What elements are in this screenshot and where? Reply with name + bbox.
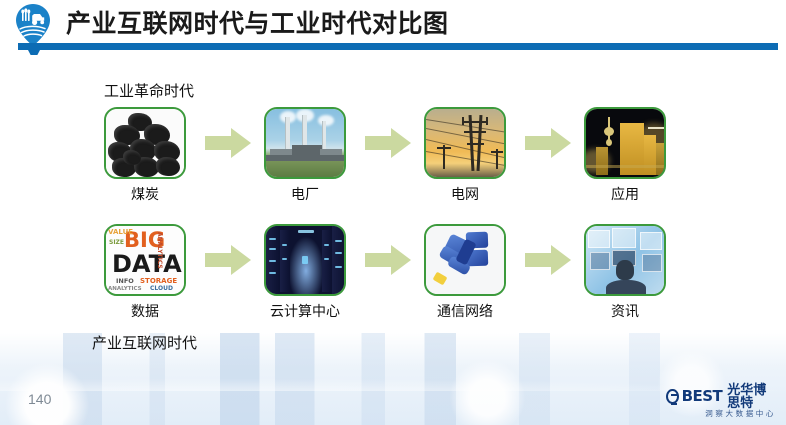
node-application[interactable]: 应用 — [584, 107, 666, 204]
arrow-cloud-to-network — [365, 245, 411, 275]
map-pin-tractor-icon — [10, 2, 56, 48]
node-label: 煤炭 — [104, 184, 186, 204]
brand-name: 光华博思特 — [727, 384, 778, 410]
page-title: 产业互联网时代与工业时代对比图 — [66, 4, 449, 40]
power-grid-image — [424, 107, 506, 179]
node-information[interactable]: 资讯 — [584, 224, 666, 321]
arrow-coal-to-plant — [205, 128, 251, 158]
diagram-stage: 工业革命时代 产业互联网时代 煤炭 — [0, 52, 786, 372]
data-center-image — [264, 224, 346, 296]
header-rule — [18, 43, 778, 50]
city-night-image — [584, 107, 666, 179]
brand-mark: BEST — [682, 389, 723, 404]
page-number: 140 — [28, 391, 51, 407]
node-power-plant[interactable]: 电厂 — [264, 107, 346, 204]
arrow-plant-to-grid — [365, 128, 411, 158]
node-power-grid[interactable]: 电网 — [424, 107, 506, 204]
node-label: 数据 — [104, 301, 186, 321]
era-label-industrial-internet: 产业互联网时代 — [92, 332, 197, 353]
big-data-wordcloud-image: BIG DATA VALUE SIZE ANALYTICS INFO STORA… — [104, 224, 186, 296]
coal-pile-image — [104, 107, 186, 179]
node-label: 应用 — [584, 184, 666, 204]
brand-logo: BEST 光华博思特 洞察大数据中心 — [666, 387, 778, 419]
node-label: 电网 — [424, 184, 506, 204]
brand-b-icon — [666, 389, 679, 404]
node-label: 资讯 — [584, 301, 666, 321]
slide-header: 产业互联网时代与工业时代对比图 — [0, 0, 786, 52]
arrow-data-to-cloud — [205, 245, 251, 275]
node-data[interactable]: BIG DATA VALUE SIZE ANALYTICS INFO STORA… — [104, 224, 186, 321]
fiber-connector-image — [424, 224, 506, 296]
node-label: 电厂 — [264, 184, 346, 204]
arrow-grid-to-application — [525, 128, 571, 158]
node-cloud-computing-center[interactable]: 云计算中心 — [264, 224, 346, 321]
arrow-network-to-information — [525, 245, 571, 275]
power-plant-image — [264, 107, 346, 179]
brand-subtitle: 洞察大数据中心 — [666, 408, 778, 419]
era-label-industrial-revolution: 工业革命时代 — [104, 80, 194, 101]
information-media-image — [584, 224, 666, 296]
node-coal[interactable]: 煤炭 — [104, 107, 186, 204]
node-label: 云计算中心 — [264, 301, 346, 321]
node-communication-network[interactable]: 通信网络 — [424, 224, 506, 321]
node-label: 通信网络 — [424, 301, 506, 321]
